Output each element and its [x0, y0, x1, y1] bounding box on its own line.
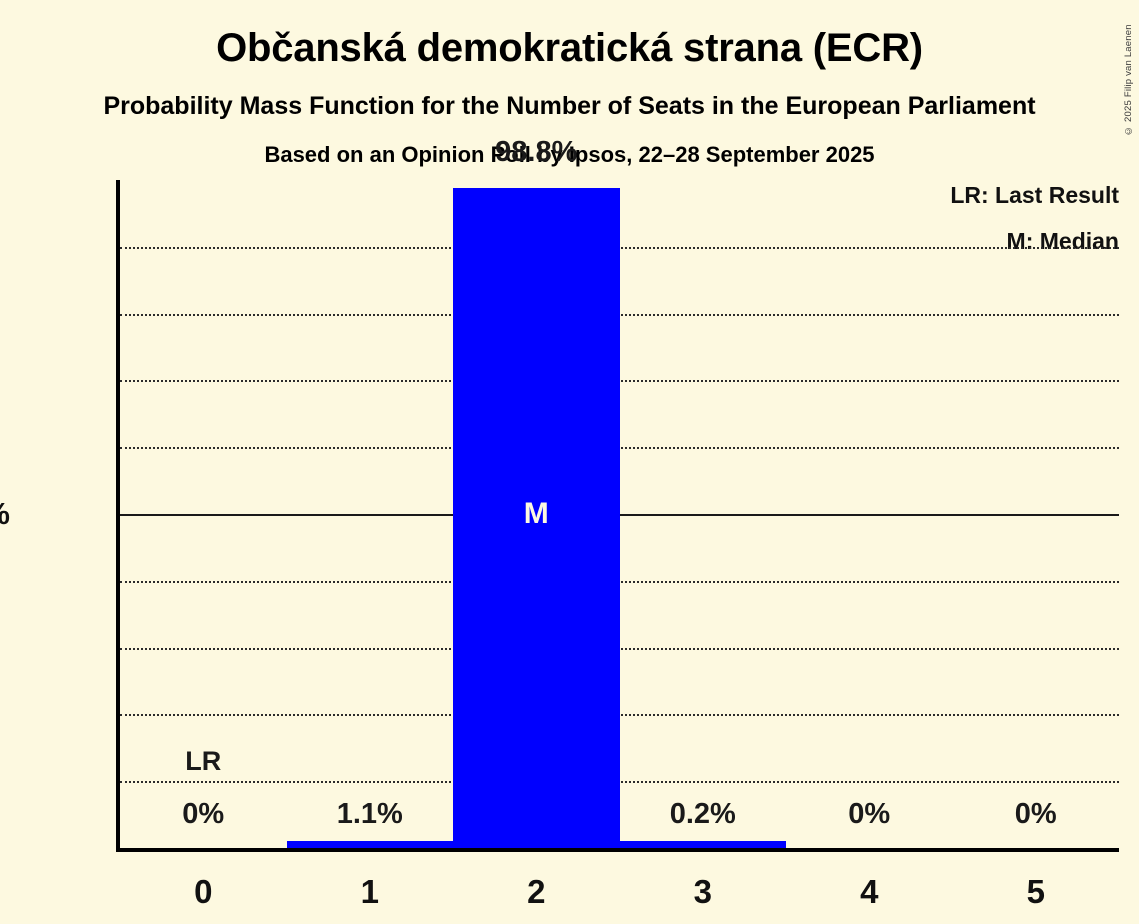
x-axis-tick-label: 2: [453, 875, 620, 908]
x-axis-tick-label: 5: [953, 875, 1120, 908]
bar-value-label: 0%: [786, 800, 953, 829]
bar-value-label: 1.1%: [287, 800, 454, 829]
bar-slot: 0.2%: [620, 180, 787, 848]
x-axis-tick-label: 0: [120, 875, 287, 908]
bar-value-label: 0%: [953, 800, 1120, 829]
x-axis-tick-label: 4: [786, 875, 953, 908]
bar-value-label: 98.8%: [453, 138, 620, 167]
y-axis-tick-label: 50%: [0, 498, 10, 529]
chart-subtitle: Probability Mass Function for the Number…: [0, 94, 1139, 119]
bar-slot: 0%: [786, 180, 953, 848]
last-result-marker: LR: [120, 748, 287, 775]
x-axis-tick-label: 3: [620, 875, 787, 908]
chart-root: © 2025 Filip van Laenen Občanská demokra…: [0, 0, 1139, 924]
bar[interactable]: [620, 841, 787, 848]
bar-slot: 1.1%: [287, 180, 454, 848]
x-axis-tick-label: 1: [287, 875, 454, 908]
bar-value-label: 0%: [120, 800, 287, 829]
bar-slot: 98.8%M: [453, 180, 620, 848]
plot-area: 0%LR1.1%98.8%M0.2%0%0%: [120, 180, 1119, 848]
bar-slot: 0%LR: [120, 180, 287, 848]
bar-series: 0%LR1.1%98.8%M0.2%0%0%: [120, 180, 1119, 848]
chart-title: Občanská demokratická strana (ECR): [0, 28, 1139, 68]
bar-slot: 0%: [953, 180, 1120, 848]
x-axis-line: [116, 848, 1119, 852]
bar[interactable]: [287, 841, 454, 848]
median-marker: M: [453, 499, 620, 529]
bar-value-label: 0.2%: [620, 800, 787, 829]
